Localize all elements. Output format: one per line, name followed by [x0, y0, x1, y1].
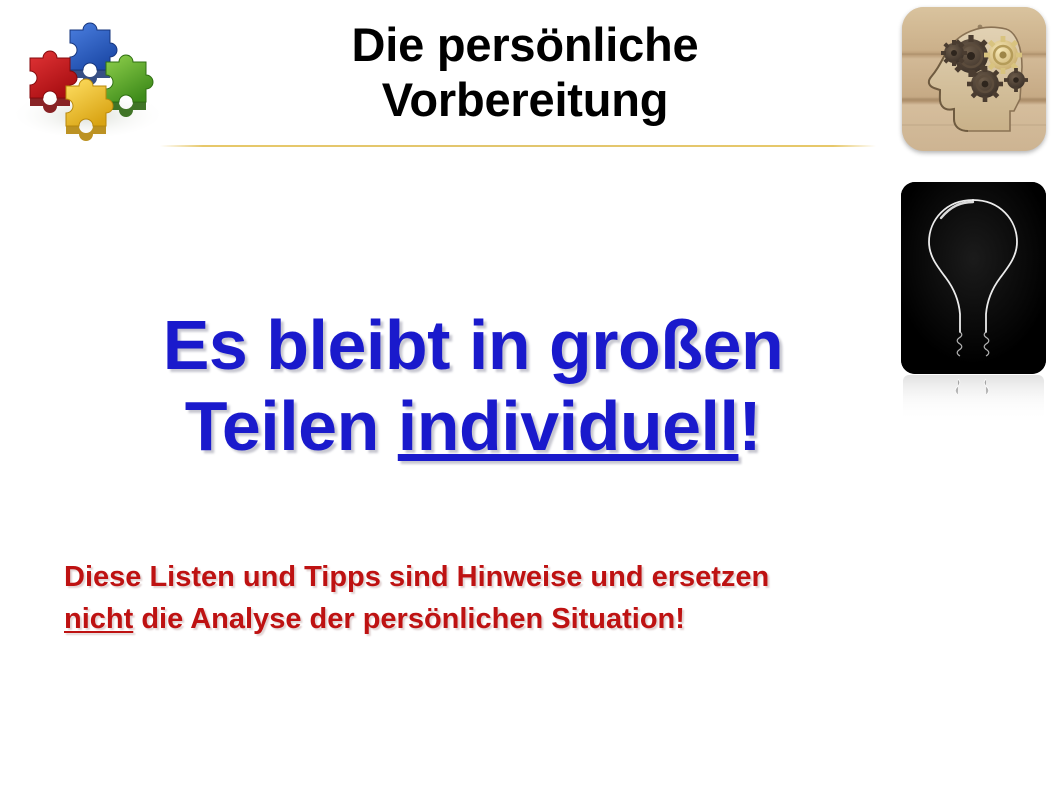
- reflection-gradient: [903, 375, 1044, 427]
- statement-line-2-prefix: Teilen: [185, 387, 398, 465]
- statement-emphasis-individuell: individuell: [398, 387, 739, 465]
- statement-line-2-suffix: !: [738, 387, 761, 465]
- puzzle-pieces-image: [8, 8, 178, 148]
- puzzle-icon: [8, 8, 178, 148]
- light-bulb-reflection: [903, 375, 1044, 427]
- page-title: Die persönliche Vorbereitung: [175, 18, 875, 127]
- light-bulb-icon: [901, 182, 1046, 374]
- main-statement: Es bleibt in großen Teilen individuell!: [58, 305, 888, 467]
- title-divider-rule: [160, 145, 876, 147]
- note-line-2: nicht die Analyse der persönlichen Situa…: [64, 598, 994, 640]
- brain-gears-icon: [902, 7, 1046, 151]
- statement-line-1: Es bleibt in großen: [58, 305, 888, 386]
- light-bulb-card: [901, 182, 1046, 374]
- statement-line-2: Teilen individuell!: [58, 386, 888, 467]
- note-line-1: Diese Listen und Tipps sind Hinweise und…: [64, 556, 994, 598]
- slide-canvas: Die persönliche Vorbereitung: [0, 0, 1058, 794]
- head-gears-image: [902, 7, 1046, 151]
- note-emphasis-nicht: nicht: [64, 603, 133, 635]
- note-line-2-rest: die Analyse der persönlichen Situation!: [133, 603, 685, 635]
- light-bulb-image: [901, 182, 1046, 427]
- slide-title-block: Die persönliche Vorbereitung: [175, 18, 875, 127]
- head-gears-card: [902, 7, 1046, 151]
- note-text: Diese Listen und Tipps sind Hinweise und…: [64, 556, 994, 641]
